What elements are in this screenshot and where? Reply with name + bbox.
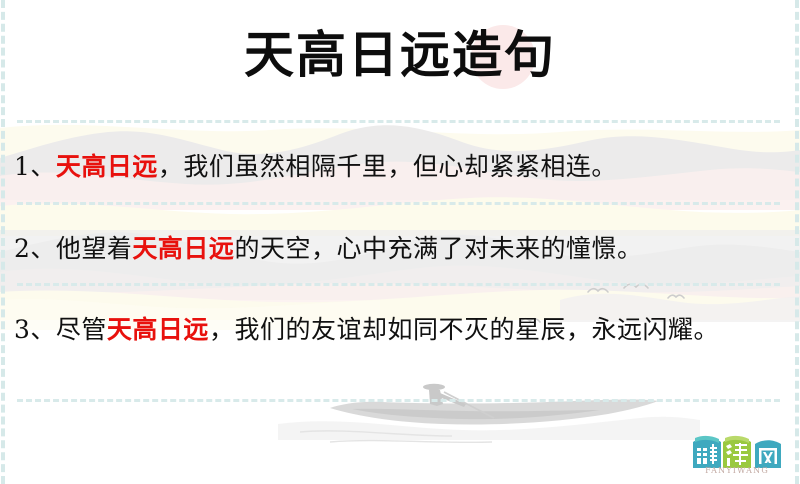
fisherman-body (429, 390, 443, 406)
boat-hull-shadow (352, 409, 600, 419)
boat-oar (444, 392, 494, 418)
separator-rule-1 (17, 120, 780, 123)
idiom-highlight: 天高日远 (56, 152, 158, 181)
page-root: 天高日远造句 1、天高日远，我们虽然相隔千里，但心却紧紧相连。 2、他望着天高日… (0, 0, 800, 484)
water-reflection (278, 417, 700, 440)
bird-icon (588, 289, 608, 292)
list-item: 3、尽管天高日远，我们的友谊却如同不灭的星辰，永远闪耀。 (14, 309, 776, 351)
list-item: 1、天高日远，我们虽然相隔千里，但心却紧紧相连。 (14, 146, 776, 188)
separator-rule-2 (17, 202, 780, 205)
sentence-number: 3、 (14, 315, 56, 344)
fisherman-figure (423, 384, 466, 407)
sentence-text-after: ，我们的友谊却如同不灭的星辰，永远闪耀。 (209, 315, 719, 344)
logo-book-wang (755, 440, 781, 468)
idiom-highlight: 天高日远 (132, 234, 234, 263)
sentence-text-before: 他望着 (56, 234, 133, 263)
sentence-text-after: 的天空，心中充满了对未来的憧憬。 (234, 234, 642, 263)
separator-rule-4 (17, 399, 780, 402)
sentence-number: 1、 (14, 152, 56, 181)
sentence-number: 2、 (14, 234, 56, 263)
boat-hull (330, 399, 658, 424)
page-title: 天高日远造句 (0, 24, 800, 86)
fanyiwang-logo-icon (689, 430, 785, 470)
bird-icon (668, 295, 684, 298)
logo-book-fan (693, 436, 721, 468)
fisherman-hat (423, 384, 445, 390)
logo-book-yi (723, 436, 751, 468)
water-ripples (300, 431, 492, 443)
sentence-text-before: 尽管 (56, 315, 107, 344)
sentence-text-after: ，我们虽然相隔千里，但心却紧紧相连。 (158, 152, 617, 181)
idiom-highlight: 天高日远 (107, 315, 209, 344)
list-item: 2、他望着天高日远的天空，心中充满了对未来的憧憬。 (14, 228, 776, 270)
separator-rule-3 (17, 283, 780, 286)
site-logo[interactable]: FANYIWANG (689, 430, 785, 478)
logo-romanization: FANYIWANG (689, 466, 785, 475)
